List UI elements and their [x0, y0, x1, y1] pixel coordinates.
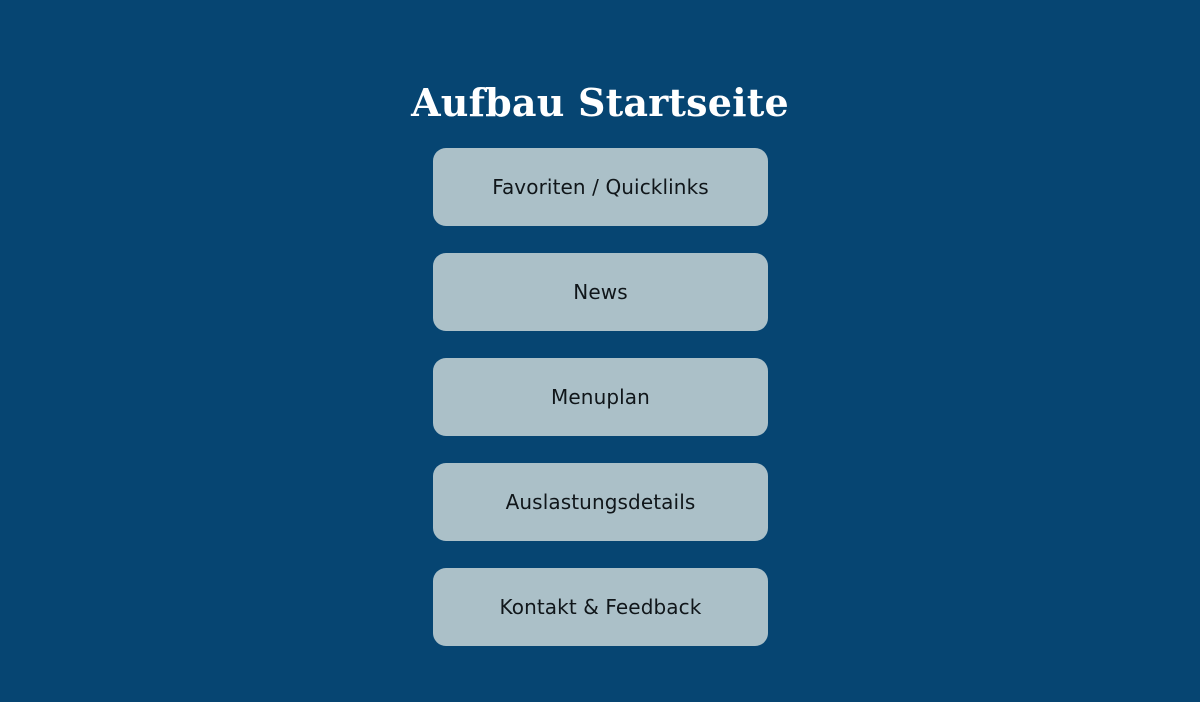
menu-button-news[interactable]: News: [433, 253, 768, 331]
menu-button-auslastungsdetails[interactable]: Auslastungsdetails: [433, 463, 768, 541]
menu-button-favoriten-quicklinks[interactable]: Favoriten / Quicklinks: [433, 148, 768, 226]
main-menu: Favoriten / Quicklinks News Menuplan Aus…: [433, 148, 768, 646]
menu-button-label: Kontakt & Feedback: [500, 594, 702, 620]
app-root: Aufbau Startseite Favoriten / Quicklinks…: [0, 0, 1200, 702]
menu-button-label: Menuplan: [551, 384, 650, 410]
menu-button-label: Auslastungsdetails: [506, 489, 696, 515]
menu-button-kontakt-feedback[interactable]: Kontakt & Feedback: [433, 568, 768, 646]
page-title: Aufbau Startseite: [0, 79, 1200, 127]
menu-button-label: Favoriten / Quicklinks: [492, 174, 709, 200]
menu-button-menuplan[interactable]: Menuplan: [433, 358, 768, 436]
menu-button-label: News: [573, 279, 627, 305]
